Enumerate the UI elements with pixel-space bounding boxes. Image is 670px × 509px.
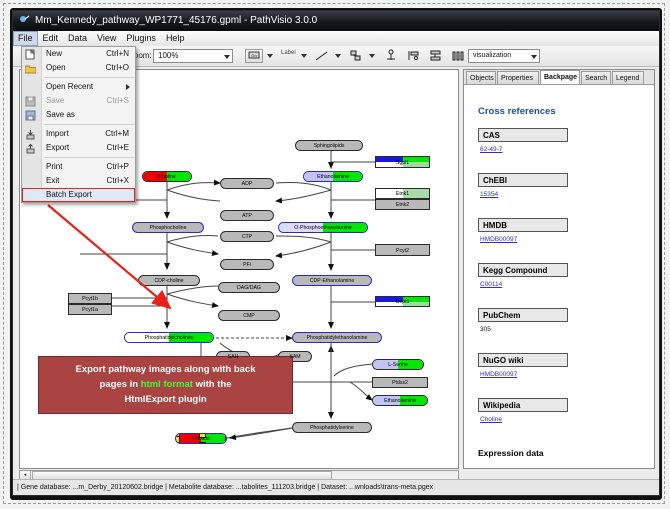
- interaction-dropdown-arrow[interactable]: [369, 54, 375, 58]
- file-menu-item-new[interactable]: NewCtrl+N: [22, 47, 135, 61]
- pathway-node-choline-bottom[interactable]: Choline: [175, 433, 227, 444]
- pathway-node-label: CTP: [221, 232, 273, 242]
- new-file-icon: [25, 49, 36, 60]
- pathway-node-label: Pcyt1b: [69, 294, 111, 304]
- file-menu-item-import[interactable]: ImportCtrl+M: [22, 127, 135, 141]
- pathway-node-label: Phosphocholine: [133, 223, 203, 233]
- visualization-value: visualization: [473, 52, 511, 59]
- save-as-icon: [25, 110, 36, 121]
- pathway-node-label: Ethanolamine: [304, 172, 362, 182]
- file-menu-dropdown[interactable]: NewCtrl+NOpenCtrl+OOpen RecentSaveCtrl+S…: [21, 46, 136, 203]
- chevron-down-icon: [224, 55, 230, 59]
- selection-handle[interactable]: [199, 433, 206, 438]
- pathway-node-label: Ethanolamine: [373, 396, 427, 406]
- xref-header-wikipedia: Wikipedia: [478, 398, 568, 412]
- pathway-node-label: Phosphatidylethanolamine: [293, 333, 381, 343]
- file-menu-item-exit[interactable]: ExitCtrl+X: [22, 174, 135, 188]
- screenshot-frame: Mm_Kennedy_pathway_WP1771_45176.gpml - P…: [0, 0, 670, 509]
- tab-legend[interactable]: Legend: [612, 71, 644, 84]
- pathway-node-label: Ptdss2: [373, 378, 427, 388]
- file-menu-item-open-recent[interactable]: Open Recent: [22, 80, 135, 94]
- pathway-node-label: Etnk1: [376, 189, 429, 199]
- xref-link[interactable]: 62-49-7: [480, 146, 502, 153]
- title-bar: Mm_Kennedy_pathway_WP1771_45176.gpml - P…: [13, 11, 659, 31]
- pathway-node-etnk2[interactable]: Etnk2: [375, 199, 430, 210]
- pathway-node-dag-dag[interactable]: DAG/DAG: [218, 282, 280, 293]
- submenu-arrow-icon: [126, 84, 130, 90]
- datanode-icon: Gn: [248, 50, 260, 60]
- label-button[interactable]: Label: [281, 50, 296, 56]
- folder-icon: [25, 63, 36, 74]
- pathway-node-label: O-Phosphoethanolamine: [279, 223, 367, 233]
- xref-header-cas: CAS: [478, 128, 568, 142]
- selection-handle[interactable]: [175, 442, 180, 444]
- menu-help[interactable]: Help: [161, 31, 190, 46]
- pathway-node-label: CMP: [219, 311, 279, 321]
- callout-highlight: html format: [141, 379, 193, 390]
- pathway-node-label: CDP-Ethanolamine: [293, 276, 371, 286]
- pathway-node-label: Pcyt1a: [69, 305, 111, 315]
- pathway-node-atp[interactable]: ATP: [220, 210, 274, 221]
- file-menu-label: Save as: [46, 110, 75, 119]
- callout-line-2-post: with the: [193, 379, 232, 390]
- file-menu-item-print[interactable]: PrintCtrl+P: [22, 160, 135, 174]
- callout-line-2-pre: pages in: [100, 379, 141, 390]
- side-panel-tabs[interactable]: ObjectsPropertiesBackpageSearchLegend: [464, 70, 654, 85]
- xref-value-wikipedia[interactable]: Choline: [480, 416, 502, 423]
- pathway-node-pcyt1b[interactable]: Pcyt1b: [68, 293, 112, 304]
- file-menu-item-save-as[interactable]: Save as: [22, 108, 135, 122]
- expression-data-title: Expression data: [478, 448, 544, 458]
- xref-value-kegg-compound[interactable]: C00114: [480, 281, 502, 288]
- pathway-node-etnk1[interactable]: Etnk1: [375, 188, 430, 199]
- file-menu-accelerator: Ctrl+N: [106, 47, 129, 61]
- pathway-node-label: L-Serine: [373, 360, 423, 370]
- pathway-node-sgpl1[interactable]: Sgpl1: [375, 156, 430, 168]
- file-menu-accelerator: Ctrl+S: [107, 94, 129, 108]
- pathvisio-window: Mm_Kennedy_pathway_WP1771_45176.gpml - P…: [12, 10, 660, 496]
- pathway-node-cmp[interactable]: CMP: [218, 310, 280, 321]
- xref-header-nugo-wiki: NuGO wiki: [478, 353, 568, 367]
- file-menu-label: Print: [46, 162, 62, 171]
- menu-separator: [44, 124, 135, 125]
- file-menu-label: Import: [46, 129, 69, 138]
- annotation-callout: Export pathway images along with back pa…: [38, 356, 293, 414]
- save-icon: [25, 96, 36, 107]
- xref-header-hmdb: HMDB: [478, 218, 568, 232]
- pathway-node-sphingolipids[interactable]: Sphingolipids: [295, 140, 363, 151]
- pathway-node-phosphatidylcholines[interactable]: Phosphatidylcholines: [124, 332, 214, 343]
- file-menu-accelerator: Ctrl+X: [107, 174, 129, 188]
- file-menu-label: Export: [46, 143, 69, 152]
- visualization-combobox[interactable]: visualization: [468, 49, 540, 63]
- file-menu-label: Exit: [46, 176, 59, 185]
- xref-link[interactable]: C00114: [480, 281, 502, 288]
- backpage-content: Cross references CAS62-49-7ChEBI15354HMD…: [470, 86, 652, 466]
- pathway-node-phosphatidylserine[interactable]: Phosphatidylserine: [292, 422, 372, 433]
- pathway-node-label: Choline: [143, 172, 191, 182]
- xref-value-nugo-wiki[interactable]: HMDB00097: [480, 371, 517, 378]
- callout-line-3: HtmlExport plugin: [39, 392, 292, 407]
- file-menu-item-open[interactable]: OpenCtrl+O: [22, 61, 135, 75]
- file-menu-item-export[interactable]: ExportCtrl+E: [22, 141, 135, 155]
- xref-header-kegg-compound: Kegg Compound: [478, 263, 568, 277]
- status-bar: | Gene database: ...m_Derby_20120602.bri…: [13, 479, 659, 495]
- window-title: Mm_Kennedy_pathway_WP1771_45176.gpml - P…: [35, 15, 317, 26]
- pathway-node-sah-1[interactable]: SAH: [216, 351, 250, 362]
- xref-value-cas[interactable]: 62-49-7: [480, 146, 502, 153]
- file-menu-item-batch-export[interactable]: Batch Export: [22, 188, 135, 202]
- pathway-node-l-serine[interactable]: L-Serine: [372, 359, 424, 370]
- menu-bar[interactable]: FileEditDataViewPluginsHelp: [13, 31, 659, 47]
- file-menu-accelerator: Ctrl+O: [106, 61, 129, 75]
- pathway-node-cdp-choline[interactable]: CDP-choline: [138, 275, 200, 286]
- datanode-dropdown-arrow[interactable]: [267, 54, 273, 58]
- xref-link[interactable]: Choline: [480, 416, 502, 423]
- side-panel: ObjectsPropertiesBackpageSearchLegend Cr…: [463, 69, 655, 469]
- xref-link[interactable]: HMDB00097: [480, 236, 517, 243]
- pathway-node-adp[interactable]: ADP: [220, 178, 274, 189]
- pathway-node-ethanolamine-2[interactable]: Ethanolamine: [372, 395, 428, 406]
- pathway-node-label: PFi: [221, 260, 273, 270]
- menu-separator: [44, 77, 135, 78]
- file-menu-item-save: SaveCtrl+S: [22, 94, 135, 108]
- menu-separator: [44, 157, 135, 158]
- tab-backpage[interactable]: Backpage: [540, 70, 580, 84]
- tab-properties[interactable]: Properties: [497, 71, 539, 84]
- pathway-node-label: Phosphatidylserine: [293, 423, 371, 433]
- zoom-combobox[interactable]: 100%: [153, 49, 233, 63]
- pathway-node-cept1[interactable]: Cept1: [375, 296, 430, 307]
- xref-value-pubchem: 305: [480, 326, 491, 333]
- xref-value-chebi[interactable]: 15354: [480, 191, 498, 198]
- menu-plugins[interactable]: Plugins: [121, 31, 161, 46]
- cross-references-title: Cross references: [478, 106, 556, 117]
- interaction-icon[interactable]: [349, 49, 363, 62]
- pathway-node-label: CDP-choline: [139, 276, 199, 286]
- pathway-node-ctp[interactable]: CTP: [220, 231, 274, 242]
- file-menu-accelerator: Ctrl+M: [105, 127, 129, 141]
- file-menu-label: Save: [46, 96, 64, 105]
- tab-objects[interactable]: Objects: [466, 71, 496, 84]
- pathway-node-label: SAH: [217, 352, 249, 362]
- anchor-icon[interactable]: [385, 49, 398, 62]
- chevron-down-icon: [531, 55, 537, 59]
- pathway-node-label: ATP: [221, 211, 273, 221]
- pathway-node-pcyt2[interactable]: Pcyt2: [375, 244, 430, 256]
- pathway-node-label: Cept1: [376, 297, 429, 307]
- selection-handle[interactable]: [225, 442, 227, 444]
- tab-search[interactable]: Search: [581, 71, 611, 84]
- pathway-node-sam-1[interactable]: SAM: [278, 351, 312, 362]
- file-menu-label: Open Recent: [46, 82, 93, 91]
- menu-edit[interactable]: Edit: [38, 31, 64, 46]
- pathway-node-pcyt1a[interactable]: Pcyt1a: [68, 304, 112, 315]
- pathway-node-ethanolamine-1[interactable]: Ethanolamine: [303, 171, 363, 182]
- align-stack-icon[interactable]: [429, 49, 442, 62]
- align-left-icon[interactable]: [407, 49, 420, 62]
- pathway-node-ptdss2[interactable]: Ptdss2: [372, 377, 428, 388]
- import-icon: [25, 129, 36, 140]
- pathway-node-label: Phosphatidylcholines: [125, 333, 213, 343]
- pathway-node-cdp-ethanolamine[interactable]: CDP-Ethanolamine: [292, 275, 372, 286]
- pathway-node-label: SAM: [279, 352, 311, 362]
- align-columns-icon[interactable]: [451, 49, 464, 62]
- export-icon: [25, 143, 36, 154]
- pathway-node-pfi[interactable]: PFi: [220, 259, 274, 270]
- menu-data[interactable]: Data: [63, 31, 92, 46]
- pathway-node-label: DAG/DAG: [219, 283, 279, 293]
- pathway-node-o-phosphoethanolamine[interactable]: O-Phosphoethanolamine: [278, 222, 368, 233]
- file-menu-accelerator: Ctrl+P: [107, 160, 129, 174]
- callout-line-2: pages in html format with the: [39, 377, 292, 392]
- pathway-node-phosphatidylethanolamine[interactable]: Phosphatidylethanolamine: [292, 332, 382, 343]
- menu-view[interactable]: View: [92, 31, 121, 46]
- file-menu-label: Batch Export: [46, 190, 92, 199]
- selection-handle[interactable]: [199, 442, 206, 444]
- line-icon[interactable]: [315, 50, 329, 62]
- datanode-button[interactable]: Gn: [245, 49, 263, 63]
- file-menu-label: New: [46, 49, 62, 58]
- label-dropdown-arrow[interactable]: [301, 54, 307, 58]
- pathway-node-choline-top[interactable]: Choline: [142, 171, 192, 182]
- zoom-value: 100%: [158, 51, 178, 60]
- pathvisio-icon: [19, 14, 30, 25]
- xref-link[interactable]: 15354: [480, 191, 498, 198]
- pathway-node-label: Pcyt2: [376, 245, 429, 256]
- pathway-node-label: Sgpl1: [376, 157, 429, 168]
- file-menu-accelerator: Ctrl+E: [107, 141, 129, 155]
- pathway-node-label: Sphingolipids: [296, 141, 362, 151]
- pathway-node-label: ADP: [221, 179, 273, 189]
- xref-header-chebi: ChEBI: [478, 173, 568, 187]
- xref-link[interactable]: HMDB00097: [480, 371, 517, 378]
- menu-file[interactable]: File: [13, 31, 38, 46]
- xref-value-hmdb[interactable]: HMDB00097: [480, 236, 517, 243]
- pathway-node-phosphocholine[interactable]: Phosphocholine: [132, 222, 204, 233]
- xref-header-pubchem: PubChem: [478, 308, 568, 322]
- line-dropdown-arrow[interactable]: [335, 54, 341, 58]
- file-menu-label: Open: [46, 63, 66, 72]
- callout-line-1: Export pathway images along with back: [39, 362, 292, 377]
- pathway-node-label: Etnk2: [376, 200, 429, 210]
- svg-text:Gn: Gn: [251, 53, 256, 58]
